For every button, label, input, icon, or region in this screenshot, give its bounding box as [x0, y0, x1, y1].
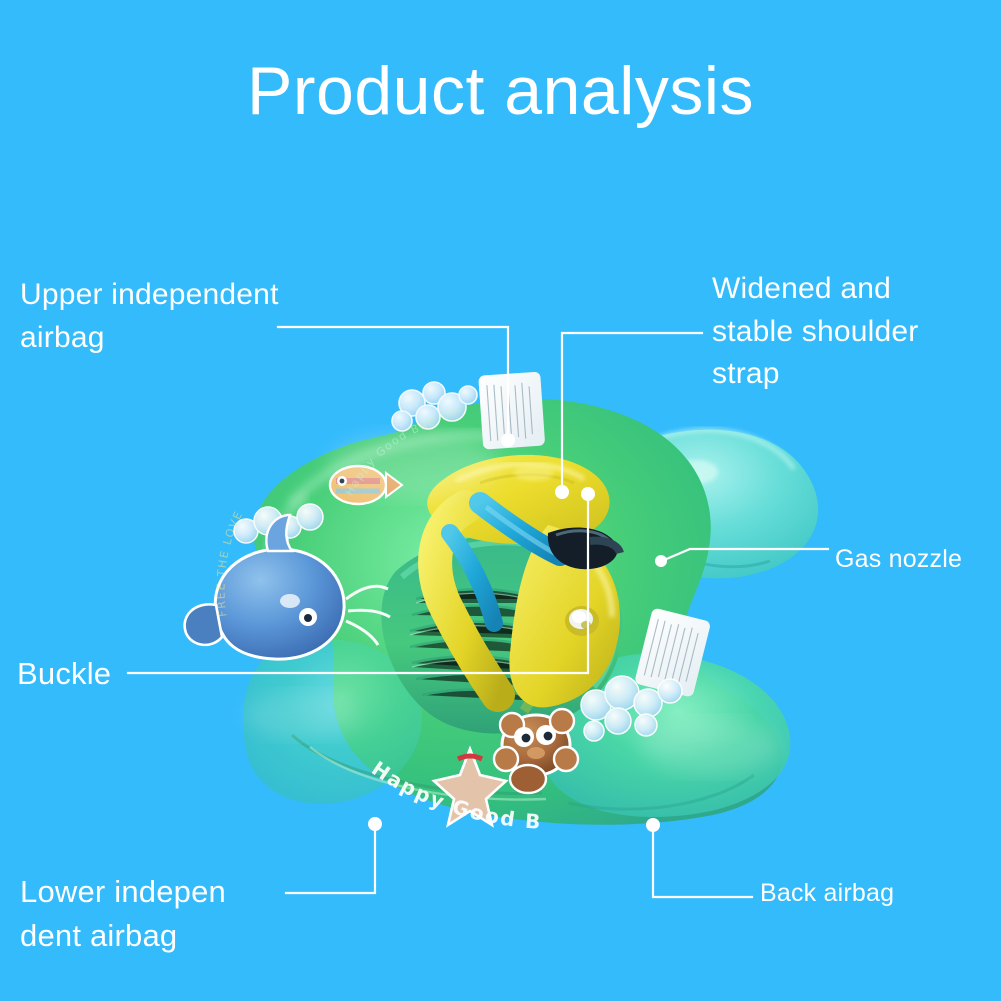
leader-lines: [0, 0, 1001, 1001]
leader-back-airbag: [653, 828, 752, 897]
leader-lower-airbag: [286, 827, 375, 893]
dot-gas-nozzle: [655, 555, 667, 567]
dot-lower-airbag: [368, 817, 382, 831]
callout-back-airbag: Back airbag: [760, 876, 894, 912]
callout-gas-nozzle: Gas nozzle: [835, 542, 962, 578]
callout-upper-airbag: Upper independent airbag: [20, 274, 279, 359]
dot-shoulder-strap: [555, 485, 569, 499]
callout-lower-airbag: Lower indepen dent airbag: [20, 870, 226, 958]
leader-buckle: [128, 496, 588, 673]
dot-back-airbag: [646, 818, 660, 832]
dot-upper-airbag: [501, 433, 515, 447]
leader-endpoint-dots: [368, 433, 667, 832]
callout-shoulder-strap: Widened and stable shoulder strap: [712, 268, 918, 396]
callout-buckle: Buckle: [17, 652, 111, 696]
leader-shoulder-strap: [562, 333, 702, 494]
leader-gas-nozzle: [664, 549, 828, 560]
leader-upper-airbag: [278, 327, 508, 438]
page-title: Product analysis: [0, 56, 1001, 127]
infographic-canvas: Happy Good Baby! FREE THE LOVE OF LIFE! …: [0, 0, 1001, 1001]
dot-buckle: [581, 487, 595, 501]
